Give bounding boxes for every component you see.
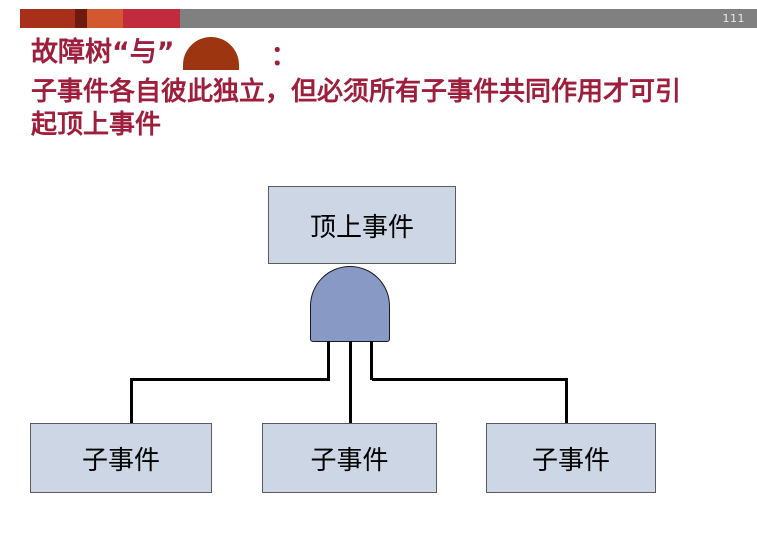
- topbar-left-pad: [0, 9, 20, 28]
- and-gate-icon: [183, 37, 239, 70]
- title-line: 故障树“与” ：: [31, 36, 731, 70]
- child-event-node-3[interactable]: 子事件: [486, 423, 656, 493]
- connector-drop-left: [130, 378, 133, 426]
- topbar-segment-orange: [87, 9, 123, 28]
- slide-canvas: 111 故障树“与” ： 子事件各自彼此独立，但必须所有子事件共同作用才可引起顶…: [0, 0, 757, 538]
- topbar-segment-brick-red: [20, 9, 75, 28]
- child-event-node-1[interactable]: 子事件: [30, 423, 212, 493]
- body-paragraph: 子事件各自彼此独立，但必须所有子事件共同作用才可引起顶上事件: [31, 76, 691, 142]
- topbar-segment-dark-maroon: [75, 9, 87, 28]
- and-gate-shape[interactable]: [310, 266, 390, 342]
- gate-output-stub-middle: [349, 341, 352, 426]
- gate-output-stub-right: [370, 341, 373, 380]
- topbar-segment-grey: [180, 9, 757, 28]
- page-number: 111: [723, 9, 746, 28]
- title-colon: ：: [271, 34, 298, 73]
- topbar-segment-crimson: [123, 9, 180, 28]
- top-event-node[interactable]: 顶上事件: [268, 186, 456, 264]
- heading-block: 故障树“与” ： 子事件各自彼此独立，但必须所有子事件共同作用才可引起顶上事件: [31, 36, 731, 142]
- top-color-bar: [0, 9, 757, 28]
- child-event-node-2[interactable]: 子事件: [262, 423, 437, 493]
- page-title: 故障树“与”: [31, 37, 175, 69]
- gate-output-stub-left: [327, 341, 330, 380]
- connector-rail-right: [372, 378, 568, 381]
- connector-rail-left: [130, 378, 330, 381]
- connector-drop-right: [565, 378, 568, 426]
